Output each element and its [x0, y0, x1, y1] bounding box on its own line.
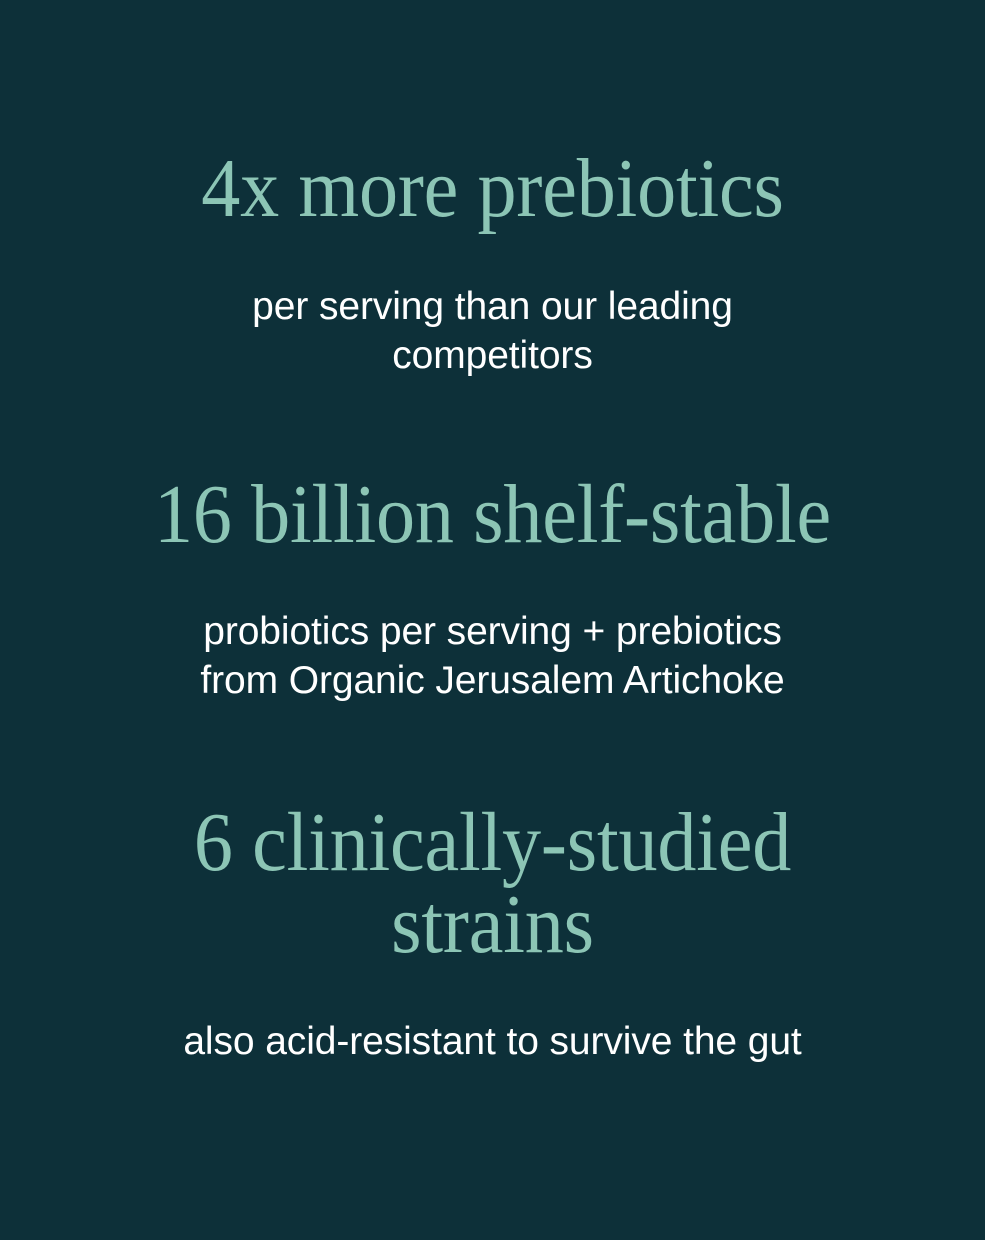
benefit-headline-prebiotics: 4x more prebiotics — [34, 148, 950, 230]
benefit-body-prebiotics: per serving than our leading competitors — [0, 282, 985, 380]
benefit-headline-strains: 6 clinically-studied strains — [34, 802, 950, 967]
benefit-block-probiotics: 16 billion shelf-stable probiotics per s… — [0, 474, 985, 706]
benefits-panel: 4x more prebiotics per serving than our … — [0, 0, 985, 1240]
benefit-block-strains: 6 clinically-studied strains also acid-r… — [0, 802, 985, 1066]
benefit-body-strains: also acid-resistant to survive the gut — [0, 1017, 985, 1066]
benefit-headline-probiotics: 16 billion shelf-stable — [34, 474, 950, 556]
benefit-block-prebiotics: 4x more prebiotics per serving than our … — [0, 148, 985, 381]
benefit-body-probiotics: probiotics per serving + prebiotics from… — [0, 607, 985, 705]
